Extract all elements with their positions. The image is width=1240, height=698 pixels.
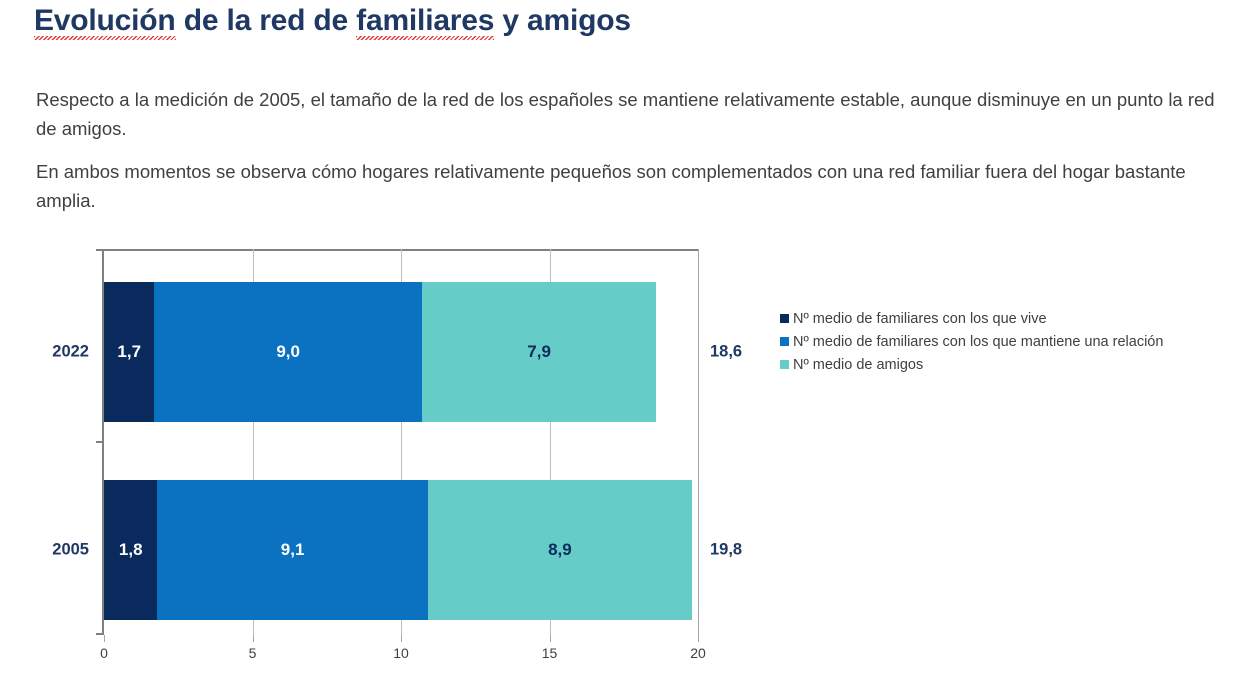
chart-legend: Nº medio de familiares con los que viveN…: [780, 307, 1240, 376]
bar-segment-2022-series-0[interactable]: 1,7: [104, 282, 154, 422]
x-tick-5: [253, 635, 254, 642]
total-label-2005: 19,8: [710, 541, 742, 560]
y-axis-tick-bottom: [96, 633, 103, 635]
category-label-2005: 2005: [9, 541, 89, 560]
y-axis-tick-middle: [96, 441, 103, 443]
bar-segment-2005-series-0[interactable]: 1,8: [104, 480, 157, 620]
legend-label-1: Nº medio de familiares con los que manti…: [793, 334, 1163, 350]
x-tick-0: [104, 635, 105, 642]
x-tick-15: [550, 635, 551, 642]
legend-swatch-icon-1: [780, 337, 789, 346]
stacked-bar-chart: 1,79,07,91,89,18,9 05101520 20222005 18,…: [0, 0, 1240, 698]
legend-swatch-icon-2: [780, 360, 789, 369]
legend-label-2: Nº medio de amigos: [793, 357, 923, 373]
bar-segment-2022-series-1[interactable]: 9,0: [154, 282, 421, 422]
bar-row-2005: 1,89,18,9: [104, 480, 692, 620]
bar-row-2022: 1,79,07,9: [104, 282, 656, 422]
legend-item-1[interactable]: Nº medio de familiares con los que manti…: [780, 330, 1240, 353]
x-tick-label-20: 20: [690, 645, 706, 661]
x-tick-label-10: 10: [393, 645, 409, 661]
legend-item-2[interactable]: Nº medio de amigos: [780, 353, 1240, 376]
legend-label-0: Nº medio de familiares con los que vive: [793, 311, 1047, 327]
y-axis-tick-top: [96, 249, 103, 251]
x-tick-10: [401, 635, 402, 642]
category-label-2022: 2022: [9, 343, 89, 362]
bar-segment-2005-series-2[interactable]: 8,9: [428, 480, 692, 620]
total-label-2022: 18,6: [710, 343, 742, 362]
bar-segment-2022-series-2[interactable]: 7,9: [422, 282, 657, 422]
legend-swatch-icon-0: [780, 314, 789, 323]
bar-segment-2005-series-1[interactable]: 9,1: [157, 480, 427, 620]
gridline-20: [698, 249, 699, 635]
chart-plot-area: 1,79,07,91,89,18,9 05101520: [104, 249, 698, 635]
x-tick-20: [698, 635, 699, 642]
x-tick-label-5: 5: [249, 645, 257, 661]
x-tick-label-0: 0: [100, 645, 108, 661]
x-tick-label-15: 15: [542, 645, 558, 661]
legend-item-0[interactable]: Nº medio de familiares con los que vive: [780, 307, 1240, 330]
